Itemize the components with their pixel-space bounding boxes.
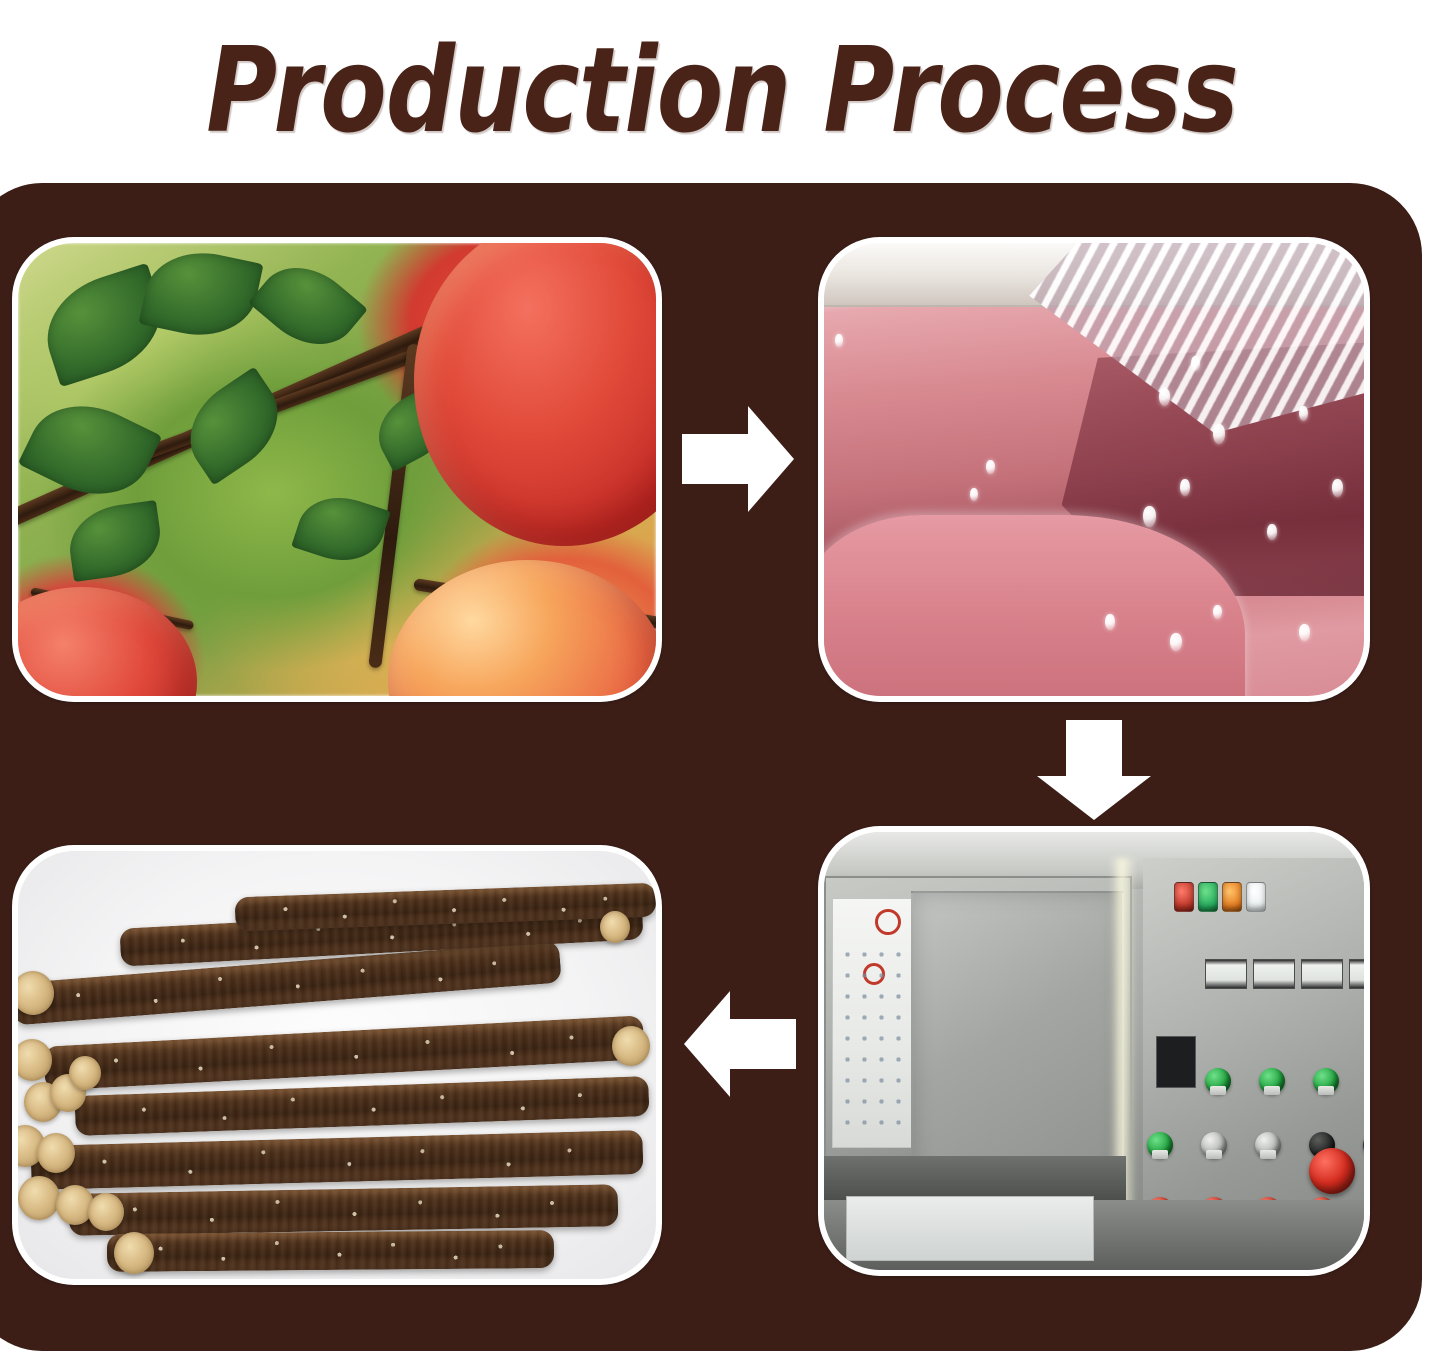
washing-image [824,243,1364,696]
wood-stick [107,1230,554,1272]
water-droplet [1213,424,1225,444]
arrow-down-icon [1033,716,1155,824]
emergency-stop-button[interactable] [1309,1148,1355,1194]
arrow-left-icon [678,985,800,1103]
rotary-switch-green[interactable] [1147,1132,1173,1158]
page-title: Production Process [207,31,1239,149]
rotary-switch-green[interactable] [1313,1068,1339,1094]
step-photo-washing [818,237,1370,702]
rotary-switch-grey[interactable] [1255,1132,1281,1158]
water-droplet [1143,506,1156,527]
step-photo-apple-orchard [12,237,662,702]
digital-display [1301,959,1343,989]
switch-row-green [1205,1068,1364,1094]
page-title-bar: Production Process [0,0,1445,180]
indicator-lamp-orange [1222,882,1242,912]
digital-display [1205,959,1247,989]
digital-display [1253,959,1295,989]
water-droplet [1159,388,1170,406]
machine-lower-panel [846,1196,1094,1262]
step-photo-machine [818,826,1370,1276]
stick-cut-end [18,1176,60,1220]
water-droplet [1332,479,1343,497]
machine-instruction-label [832,898,914,1148]
machine-image [824,832,1364,1270]
panel-black-vent [1156,1036,1196,1088]
production-process-infographic: Production Process [0,0,1445,1358]
stick-cut-end [612,1026,650,1066]
warning-symbol-icon [875,909,901,935]
machine-conveyor-belt [824,1156,1126,1200]
rotary-switch-green[interactable] [1259,1068,1285,1094]
digital-display [1349,959,1364,989]
stick-cut-end [114,1232,154,1274]
step-photo-sticks [12,845,662,1285]
water-droplet [1299,624,1310,641]
water-droplet [1170,633,1182,651]
water-droplet [1213,605,1222,619]
sticks-image [18,851,656,1279]
indicator-lamp-red [1174,882,1194,912]
water-droplet [835,334,843,347]
indicator-lamp-green [1198,882,1218,912]
indicator-lamp-row [1174,882,1266,912]
arrow-right-icon [678,400,798,518]
indicator-lamp-white [1246,882,1266,912]
push-button-black[interactable] [1363,1132,1364,1158]
label-text-lines [839,944,905,1127]
rotary-switch-green[interactable] [1205,1068,1231,1094]
rotary-switch-grey[interactable] [1201,1132,1227,1158]
digital-display-row [1205,959,1364,989]
water-droplet [1267,524,1277,540]
apple-orchard-image [18,243,656,696]
water-droplet [970,488,978,501]
